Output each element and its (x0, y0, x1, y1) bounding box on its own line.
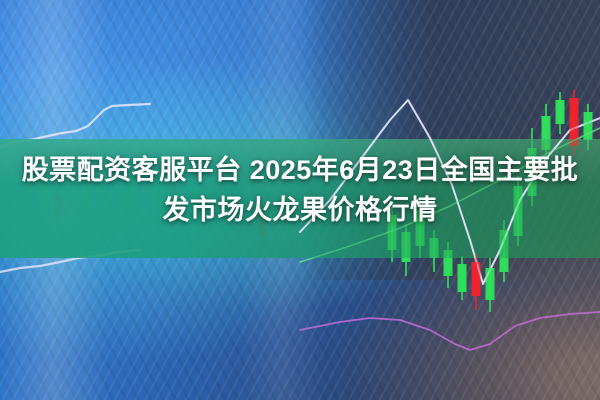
candle-body (402, 232, 411, 262)
banner-image: 股票配资客服平台 2025年6月23日全国主要批 发市场火龙果价格行情 (0, 0, 600, 400)
page-title: 股票配资客服平台 2025年6月23日全国主要批 发市场火龙果价格行情 (0, 150, 600, 230)
candle-body (486, 268, 495, 300)
candle-body (458, 264, 467, 292)
candle-body (500, 230, 509, 272)
candlestick (402, 224, 411, 276)
candle-body (556, 100, 565, 124)
headline-line-1: 股票配资客服平台 2025年6月23日全国主要批 (22, 155, 579, 185)
candle-body (472, 262, 481, 296)
candlestick (472, 254, 481, 310)
candle-body (430, 238, 439, 258)
candlestick (458, 256, 467, 300)
candle-body (444, 250, 453, 276)
candlestick (430, 230, 439, 272)
candlestick (444, 242, 453, 288)
candlestick (570, 90, 579, 156)
candle-body (542, 116, 551, 150)
candlestick (556, 92, 565, 134)
candlestick (486, 258, 495, 312)
candlestick (584, 104, 593, 150)
headline-line-2: 发市场火龙果价格行情 (0, 190, 600, 230)
